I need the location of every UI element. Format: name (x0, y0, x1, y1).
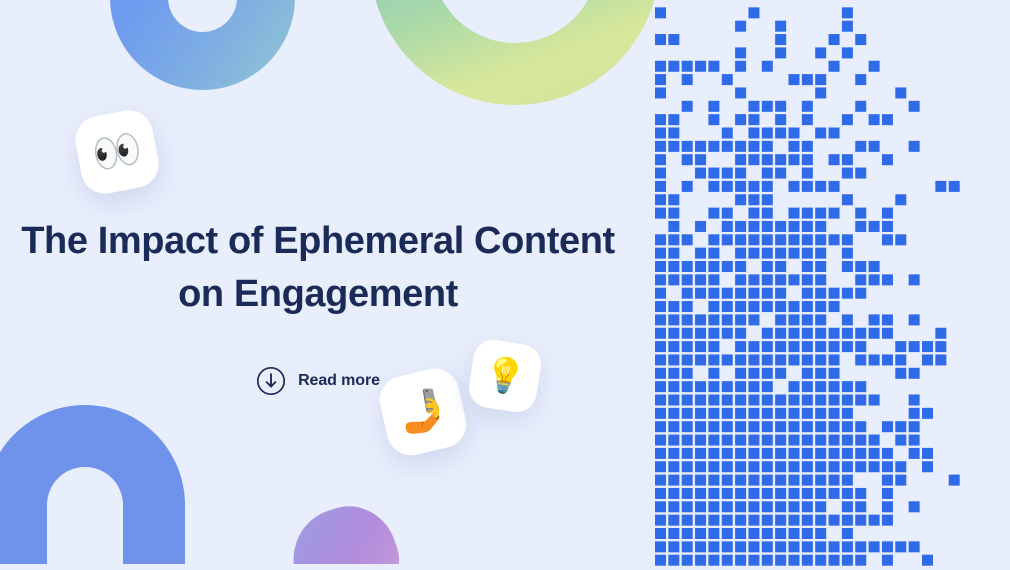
selfie-icon: 🤳 (394, 387, 452, 437)
page-title: The Impact of Ephemeral Content on Engag… (0, 215, 636, 321)
read-more-label: Read more (298, 372, 380, 390)
pixel-dissolve-pattern (655, 0, 1010, 570)
lightbulb-icon: 💡 (481, 356, 528, 396)
arrow-down-circle-icon (256, 366, 286, 396)
hero-content: The Impact of Ephemeral Content on Engag… (0, 0, 636, 564)
emoji-card-lightbulb: 💡 (466, 337, 544, 415)
read-more-button[interactable]: Read more (0, 366, 636, 396)
eyes-icon: 👀 (89, 128, 146, 177)
